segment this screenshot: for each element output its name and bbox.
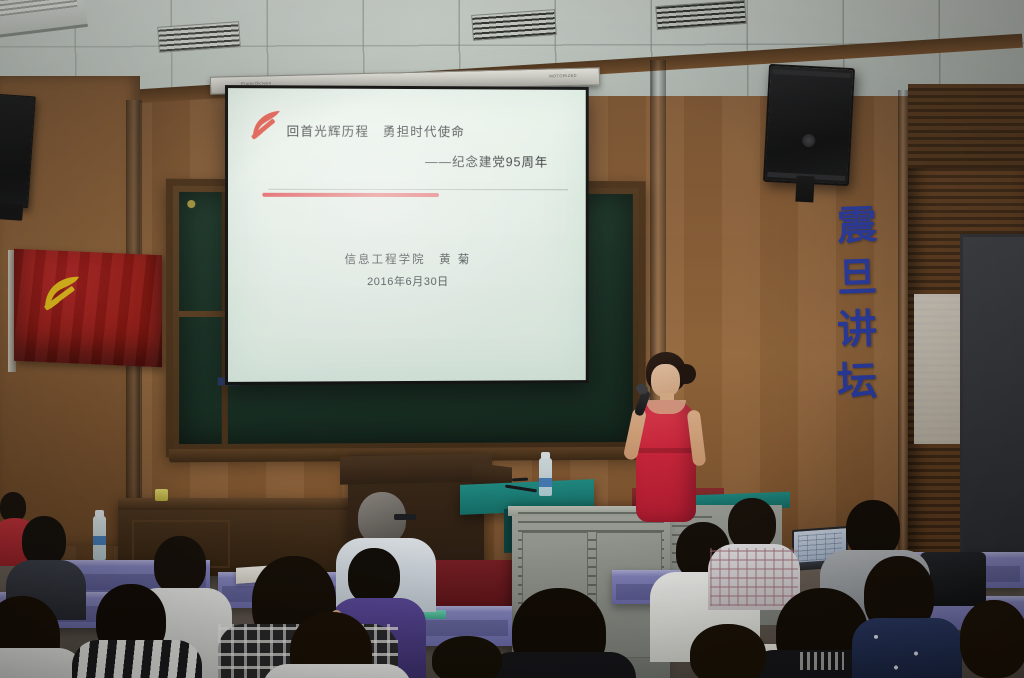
- speaker-mount: [795, 176, 814, 203]
- slide-organization: 信息工程学院 黄 菊: [228, 251, 586, 267]
- slide-rule-grey: [268, 189, 568, 190]
- audience-head: [960, 600, 1024, 678]
- floral-pattern: [856, 620, 956, 676]
- audience-torso-black-tee: [486, 652, 636, 678]
- audience-head: [22, 516, 66, 566]
- audience-head: [154, 536, 206, 594]
- housing-brand-right: MOTORIZED: [549, 73, 577, 79]
- side-door[interactable]: [960, 234, 1024, 570]
- audience-torso-striped: [72, 640, 202, 678]
- slide-date: 2016年6月30日: [228, 273, 586, 290]
- party-flag: [14, 249, 162, 367]
- calligraphy-char-2: 旦: [836, 257, 877, 298]
- lecture-hall-photo: ProjectScreen MOTORIZED 回首光辉历程 勇担时代使命 ——…: [0, 0, 1024, 678]
- audience-head: [728, 498, 776, 550]
- wall-column: [898, 90, 908, 550]
- audience-head: [690, 624, 766, 678]
- yellow-cup: [155, 489, 168, 501]
- speaker-bracket: [0, 203, 23, 221]
- slide-subtitle: ——纪念建党95周年: [425, 151, 548, 170]
- shirt-graphic: [800, 652, 844, 670]
- calligraphy-char-3: 讲: [836, 309, 877, 350]
- calligraphy-char-4: 坛: [836, 361, 877, 402]
- bottle-cap: [541, 452, 550, 459]
- presenter-waistline: [636, 448, 696, 453]
- slatted-wood-wall: [908, 84, 1024, 584]
- wall-loudspeaker-right: [763, 64, 855, 186]
- wall-calligraphy: 震 旦 讲 坛: [826, 206, 888, 402]
- audience-head: [348, 548, 400, 604]
- hammer-and-sickle-icon: [246, 106, 286, 144]
- calligraphy-char-1: 震: [836, 205, 877, 246]
- bottle-label: [539, 478, 552, 487]
- speaker-trim-top: [773, 69, 851, 78]
- speaker-cone-icon: [802, 134, 816, 148]
- slatted-wood-upper: [908, 84, 1024, 168]
- audience-head: [432, 636, 502, 678]
- slide-title: 回首光辉历程 勇担时代使命: [287, 121, 566, 146]
- eyeglasses-icon: [394, 514, 416, 520]
- water-bottle: [539, 458, 552, 496]
- door-glass-panel: [914, 294, 960, 444]
- projection-screen: 回首光辉历程 勇担时代使命 ——纪念建党95周年 信息工程学院 黄 菊 2016…: [225, 85, 589, 385]
- slide-rule-red: [262, 193, 439, 197]
- water-bottle: [93, 516, 106, 560]
- bottle-label: [93, 536, 106, 545]
- hammer-and-sickle-icon: [36, 268, 90, 320]
- lectern-top: [340, 453, 492, 484]
- plaid-pattern: [710, 548, 798, 606]
- presenter: [620, 352, 706, 524]
- bottle-cap: [95, 510, 104, 517]
- audience-torso: [262, 664, 412, 678]
- blackboard-pin: [187, 200, 195, 208]
